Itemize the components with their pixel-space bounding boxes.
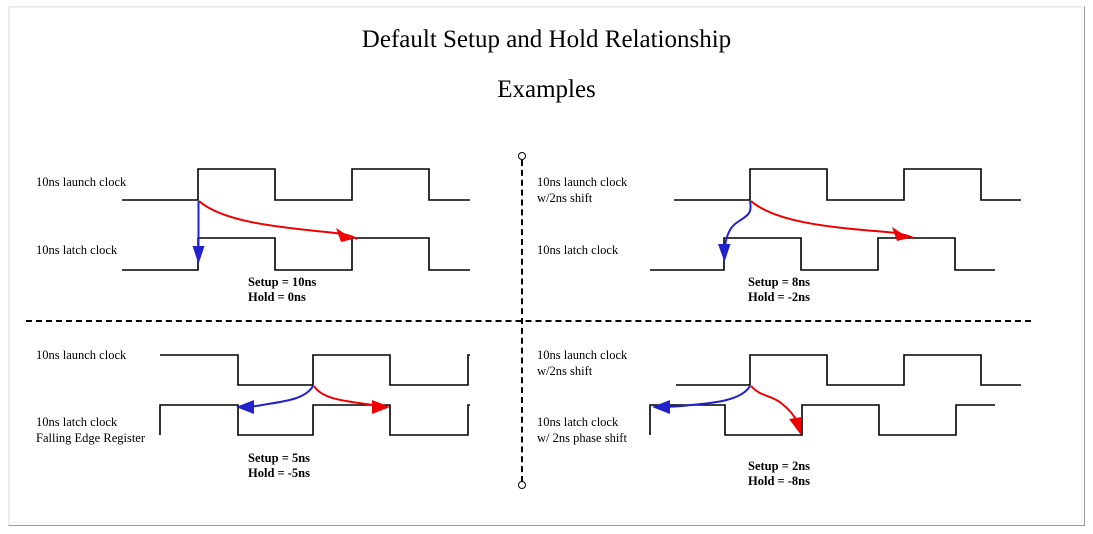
- setup-value: Setup = 10ns: [248, 275, 316, 290]
- setup-arrow: [751, 201, 913, 238]
- timing-waveforms-top-left: [0, 0, 520, 320]
- setup-value: Setup = 5ns: [248, 451, 310, 466]
- setup-value: Setup = 2ns: [748, 459, 810, 474]
- setup-arrowhead: [372, 400, 390, 414]
- quadrant-top-left: 10ns launch clock 10ns latch clock Setup…: [0, 0, 520, 320]
- setup-hold-caption: Setup = 5ns Hold = -5ns: [248, 451, 310, 481]
- hold-value: Hold = -5ns: [248, 466, 310, 481]
- launch-clock-waveform: [122, 169, 470, 200]
- quadrant-bottom-left: 10ns launch clock 10ns latch clock Falli…: [0, 321, 520, 534]
- hold-arrow: [725, 201, 751, 247]
- diagram-page: Default Setup and Hold Relationship Exam…: [0, 0, 1093, 534]
- timing-waveforms-bottom-left: [0, 321, 520, 534]
- latch-clock-waveform: [122, 238, 470, 270]
- hold-arrowhead: [718, 244, 731, 262]
- latch-clock-waveform: [160, 405, 470, 435]
- hold-value: Hold = -8ns: [748, 474, 810, 489]
- launch-clock-waveform: [674, 169, 1021, 200]
- hold-arrowhead: [652, 400, 670, 414]
- setup-hold-caption: Setup = 10ns Hold = 0ns: [248, 275, 316, 305]
- setup-hold-caption: Setup = 2ns Hold = -8ns: [748, 459, 810, 489]
- hold-value: Hold = -2ns: [748, 290, 810, 305]
- hold-arrow: [657, 386, 750, 407]
- hold-arrowhead: [193, 246, 205, 264]
- launch-clock-waveform: [160, 355, 470, 385]
- latch-clock-waveform: [650, 238, 995, 270]
- setup-arrow: [199, 201, 357, 239]
- setup-arrowhead: [789, 417, 802, 435]
- setup-value: Setup = 8ns: [748, 275, 810, 290]
- setup-arrowhead: [892, 227, 909, 241]
- hold-value: Hold = 0ns: [248, 290, 316, 305]
- launch-clock-waveform: [676, 355, 1021, 385]
- timing-waveforms-top-right: [521, 0, 1093, 320]
- quadrant-bottom-right: 10ns launch clock w/2ns shift 10ns latch…: [521, 321, 1093, 534]
- setup-arrow: [751, 386, 798, 423]
- latch-clock-waveform: [650, 405, 995, 435]
- quadrant-top-right: 10ns launch clock w/2ns shift 10ns latch…: [521, 0, 1093, 320]
- setup-hold-caption: Setup = 8ns Hold = -2ns: [748, 275, 810, 305]
- setup-arrowhead: [336, 228, 353, 242]
- timing-waveforms-bottom-right: [521, 321, 1093, 534]
